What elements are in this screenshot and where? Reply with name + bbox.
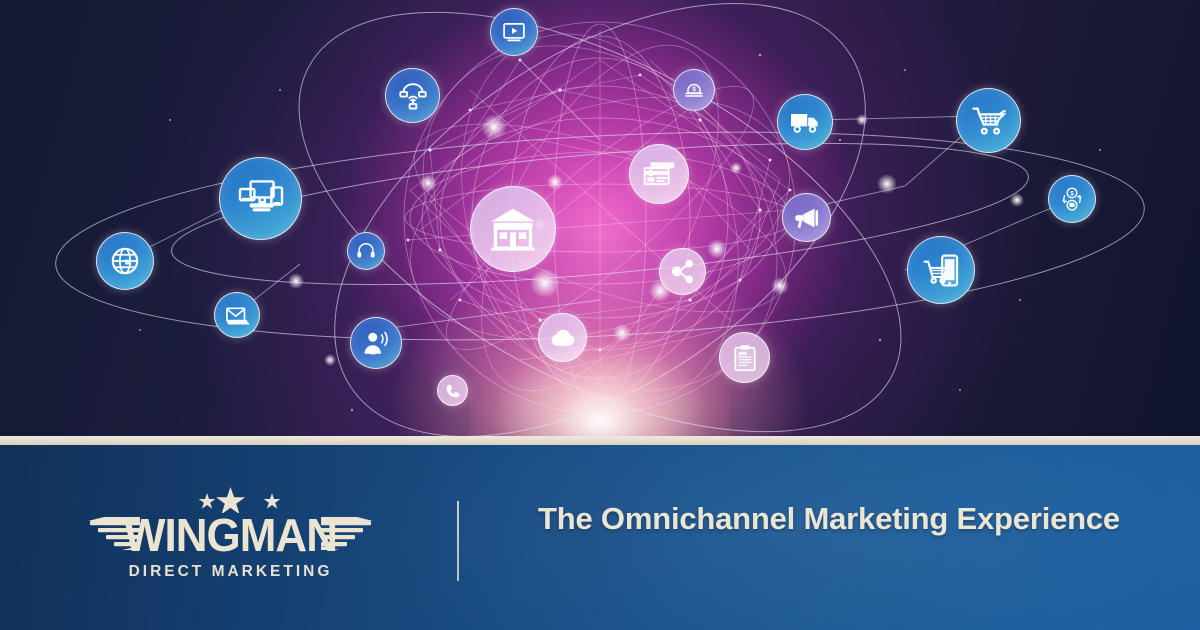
- mobile-commerce-icon: [922, 251, 961, 290]
- megaphone-icon: [793, 204, 821, 232]
- cloud-icon: [549, 324, 577, 352]
- node-headset[interactable]: [347, 232, 385, 270]
- social-share-card: $$: [0, 0, 1200, 630]
- wifi-network-icon: [397, 80, 429, 112]
- node-retail-store[interactable]: [470, 186, 556, 272]
- node-email[interactable]: [214, 292, 260, 338]
- svg-text:$: $: [1070, 191, 1074, 198]
- globe-icon: [108, 244, 142, 278]
- tagline-text: The Omnichannel Marketing Experience: [538, 499, 1138, 538]
- logo-wordmark: WINGMAN: [88, 509, 373, 561]
- orbit-rings-graphic: [0, 0, 1200, 436]
- credit-card-icon: [642, 157, 677, 192]
- logo-brand-text: WINGMAN: [124, 509, 337, 561]
- node-shopping-cart[interactable]: [956, 88, 1021, 153]
- node-price-tag[interactable]: $: [673, 69, 715, 111]
- svg-text:$: $: [692, 86, 696, 93]
- orbit-ring-tilted-b: [259, 0, 941, 436]
- email-envelope-icon: [224, 302, 251, 329]
- node-cloud[interactable]: [538, 313, 587, 362]
- telemarketing-icon: [361, 328, 391, 358]
- node-clipboard[interactable]: [719, 332, 770, 383]
- multi-device-icon: [237, 175, 285, 223]
- call-refresh-icon: [444, 382, 462, 400]
- cream-divider: [0, 436, 1200, 445]
- footer-bar: WINGMAN DIRECT MARKETING The Omnichannel…: [0, 445, 1200, 630]
- node-call-refresh[interactable]: [437, 375, 468, 406]
- video-player-icon: [500, 18, 528, 46]
- hero-artwork: $$: [0, 0, 1200, 436]
- node-share-network[interactable]: [659, 248, 706, 295]
- footer-vertical-divider: [457, 501, 459, 581]
- retail-store-icon: [488, 204, 538, 254]
- clipboard-document-icon: [730, 343, 760, 373]
- wingman-logo[interactable]: WINGMAN DIRECT MARKETING: [88, 487, 373, 591]
- share-network-icon: [669, 258, 696, 285]
- money-exchange-icon: $: [1058, 185, 1086, 213]
- node-video-player[interactable]: [490, 8, 538, 56]
- shopping-cart-icon: [970, 102, 1008, 140]
- node-megaphone[interactable]: [782, 193, 831, 242]
- node-globe[interactable]: [96, 232, 154, 290]
- node-delivery-truck[interactable]: [777, 94, 833, 150]
- headset-icon: [355, 240, 377, 262]
- node-credit-card[interactable]: [629, 144, 689, 204]
- node-iot-wifi[interactable]: [385, 68, 440, 123]
- node-telemarketing[interactable]: [350, 317, 402, 369]
- node-money-exchange[interactable]: $: [1048, 175, 1096, 223]
- price-tag-icon: $: [682, 78, 706, 102]
- logo-subtitle: DIRECT MARKETING: [88, 563, 373, 581]
- delivery-truck-icon: [789, 106, 821, 138]
- node-mobile-commerce[interactable]: [907, 236, 975, 304]
- node-multi-device[interactable]: [219, 157, 302, 240]
